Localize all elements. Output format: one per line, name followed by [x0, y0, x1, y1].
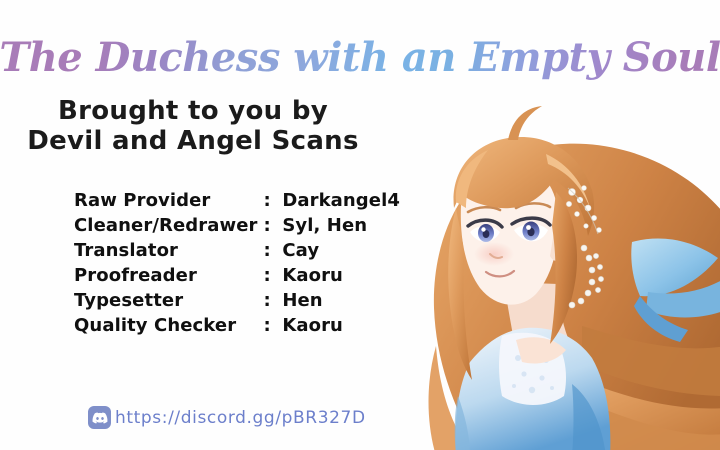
role-label: Proofreader [74, 265, 264, 290]
table-row: Proofreader : Kaoru [74, 265, 400, 290]
table-row: Translator : Cay [74, 240, 400, 265]
credits-block: Brought to you by Devil and Angel Scans … [0, 96, 400, 340]
role-label: Raw Provider [74, 190, 264, 215]
role-separator: : [264, 265, 283, 290]
role-value: Darkangel4 [282, 190, 400, 215]
character-illustration [396, 96, 720, 450]
role-separator: : [264, 315, 283, 340]
discord-link[interactable]: https://discord.gg/pBR327D [88, 406, 366, 429]
role-label: Quality Checker [74, 315, 264, 340]
discord-url-text[interactable]: https://discord.gg/pBR327D [115, 408, 366, 428]
role-value: Kaoru [282, 315, 400, 340]
title-banner: The Duchess with an Empty Soul [0, 28, 720, 86]
role-separator: : [264, 290, 283, 315]
table-row: Cleaner/Redrawer : Syl, Hen [74, 215, 400, 240]
table-row: Raw Provider : Darkangel4 [74, 190, 400, 215]
role-label: Cleaner/Redrawer [74, 215, 264, 240]
brought-by-line-1: Brought to you by [0, 96, 386, 126]
table-row: Typesetter : Hen [74, 290, 400, 315]
role-separator: : [264, 240, 283, 265]
role-separator: : [264, 215, 283, 240]
role-label: Translator [74, 240, 264, 265]
discord-icon [88, 406, 111, 429]
scan-group-name: Devil and Angel Scans [0, 126, 386, 156]
role-value: Kaoru [282, 265, 400, 290]
role-value: Cay [282, 240, 400, 265]
credits-page: The Duchess with an Empty Soul [0, 0, 720, 450]
table-row: Quality Checker : Kaoru [74, 315, 400, 340]
credits-table: Raw Provider : Darkangel4 Cleaner/Redraw… [74, 190, 400, 340]
role-label: Typesetter [74, 290, 264, 315]
page-title: The Duchess with an Empty Soul [0, 34, 720, 81]
role-value: Hen [282, 290, 400, 315]
role-value: Syl, Hen [282, 215, 400, 240]
brought-to-you-by-heading: Brought to you by Devil and Angel Scans [0, 96, 386, 156]
role-separator: : [264, 190, 283, 215]
